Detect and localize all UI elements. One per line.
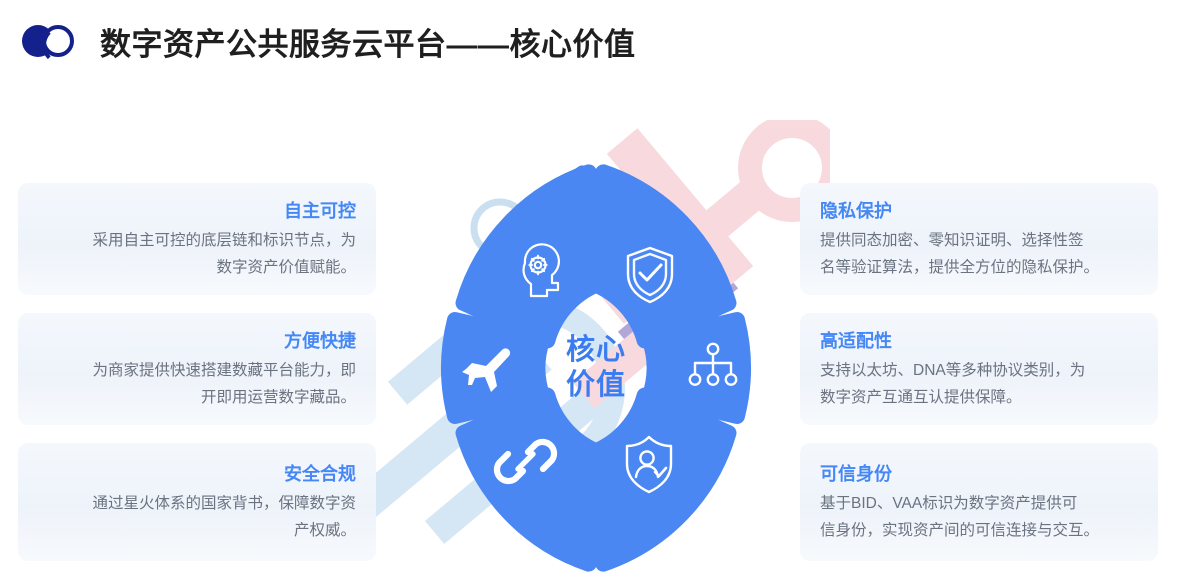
feature-card-title: 可信身份	[820, 461, 1138, 488]
feature-card-description: 采用自主可控的底层链和标识节点，为 数字资产价值赋能。	[38, 228, 356, 281]
feature-card-description: 为商家提供快速搭建数藏平台能力，即 开即用运营数字藏品。	[38, 358, 356, 411]
feature-card-title: 安全合规	[38, 461, 356, 488]
feature-card-privacy[interactable]: 隐私保护 提供同态加密、零知识证明、选择性签 名等验证算法，提供全方位的隐私保护…	[800, 183, 1158, 295]
brand-logo-icon	[22, 24, 80, 58]
wheel-segment-compliance[interactable]	[462, 393, 610, 570]
feature-card-description: 基于BID、VAA标识为数字资产提供可 信身份，实现资产间的可信连接与交互。	[820, 491, 1138, 544]
feature-card-title: 高适配性	[820, 328, 1138, 355]
feature-card-description: 提供同态加密、零知识证明、选择性签 名等验证算法，提供全方位的隐私保护。	[820, 228, 1138, 281]
core-value-wheel	[398, 170, 794, 566]
logo-ring-circle	[42, 25, 74, 57]
feature-card-title: 自主可控	[38, 198, 356, 225]
feature-card-title: 方便快捷	[38, 328, 356, 355]
feature-card-adaptive[interactable]: 高适配性 支持以太坊、DNA等多种协议类别，为 数字资产互通互认提供保障。	[800, 313, 1158, 425]
slide-header: 数字资产公共服务云平台——核心价值	[0, 0, 1191, 82]
wheel-segment-convenient[interactable]	[449, 320, 542, 416]
feature-card-compliance[interactable]: 安全合规 通过星火体系的国家背书，保障数字资 产权威。	[18, 443, 376, 561]
feature-card-autonomy[interactable]: 自主可控 采用自主可控的底层链和标识节点，为 数字资产价值赋能。	[18, 183, 376, 295]
feature-card-title: 隐私保护	[820, 198, 1138, 225]
feature-card-identity[interactable]: 可信身份 基于BID、VAA标识为数字资产提供可 信身份，实现资产间的可信连接与…	[800, 443, 1158, 561]
slide-canvas: 数字资产公共服务云平台——核心价值	[0, 0, 1191, 588]
wheel-segment-privacy[interactable]	[582, 166, 730, 343]
feature-card-description: 支持以太坊、DNA等多种协议类别，为 数字资产互通互认提供保障。	[820, 358, 1138, 411]
feature-card-description: 通过星火体系的国家背书，保障数字资 产权威。	[38, 491, 356, 544]
feature-card-convenient[interactable]: 方便快捷 为商家提供快速搭建数藏平台能力，即 开即用运营数字藏品。	[18, 313, 376, 425]
page-title: 数字资产公共服务云平台——核心价值	[100, 19, 636, 64]
